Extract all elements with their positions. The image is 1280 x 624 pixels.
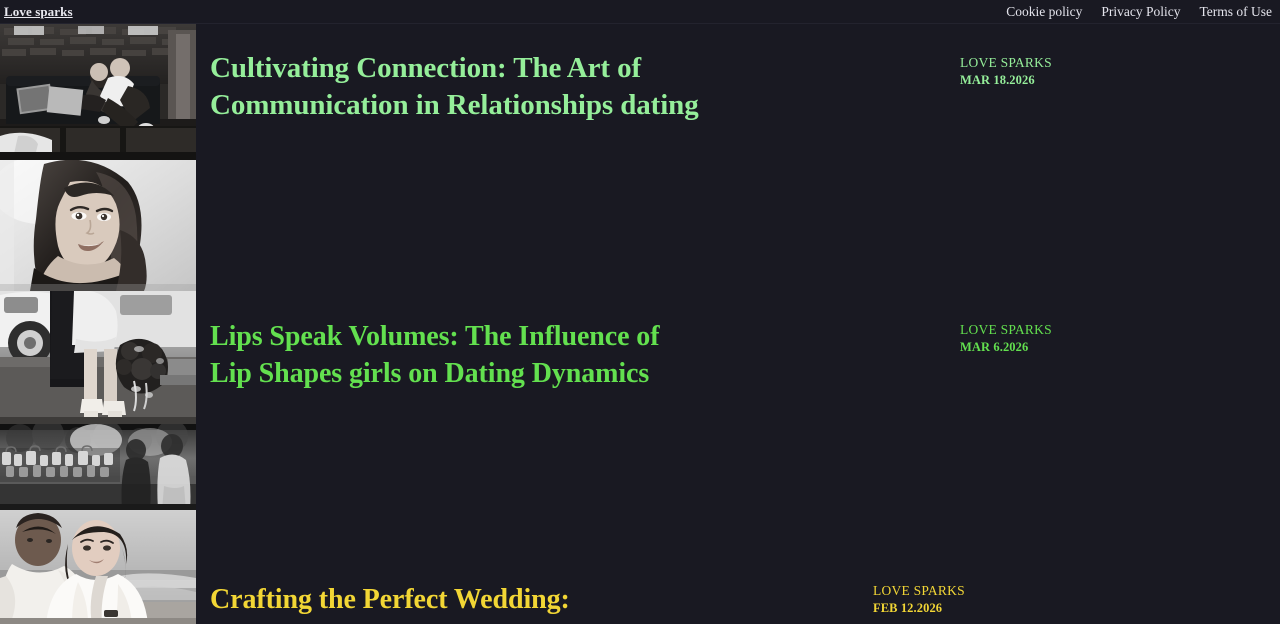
article-title-line: Cultivating Connection: The Art of bbox=[210, 50, 699, 87]
article-row[interactable]: Crafting the Perfect Wedding: Tips for r… bbox=[0, 291, 1280, 424]
site-header: Love sparks Cookie policy Privacy Policy… bbox=[0, 0, 1280, 24]
article-title[interactable]: Cultivating Connection: The Art of Commu… bbox=[210, 50, 699, 124]
article-title-line: Communication in Relationships dating bbox=[210, 87, 699, 124]
article-meta: LOVE SPARKS MAR 18.2026 bbox=[960, 54, 1052, 88]
article-thumbnail-2[interactable] bbox=[0, 160, 196, 291]
article-thumbnail-4[interactable] bbox=[0, 424, 196, 510]
site-brand-logo[interactable]: Love sparks bbox=[4, 5, 73, 18]
header-nav: Cookie policy Privacy Policy Terms of Us… bbox=[1006, 5, 1272, 19]
article-thumbnail-5[interactable] bbox=[0, 510, 196, 624]
article-list: Cultivating Connection: The Art of Commu… bbox=[0, 24, 1280, 624]
article-thumbnail-3[interactable] bbox=[0, 291, 196, 424]
article-date: MAR 18.2026 bbox=[960, 72, 1052, 89]
nav-link-privacy-policy[interactable]: Privacy Policy bbox=[1101, 5, 1180, 19]
article-category[interactable]: LOVE SPARKS bbox=[960, 54, 1052, 72]
article-row[interactable]: Cultivating Connection: The Art of Commu… bbox=[0, 24, 1280, 160]
nav-link-terms-of-use[interactable]: Terms of Use bbox=[1199, 5, 1272, 19]
article-row[interactable]: Lips Speak Volumes: The Influence of Lip… bbox=[0, 160, 1280, 291]
article-row[interactable]: Crafting the Perfect Wedding Theme: flow… bbox=[0, 510, 1280, 624]
nav-link-cookie-policy[interactable]: Cookie policy bbox=[1006, 5, 1082, 19]
article-row[interactable]: Connection Beyond Borders: The date Impa… bbox=[0, 424, 1280, 510]
article-thumbnail-1[interactable] bbox=[0, 24, 196, 160]
